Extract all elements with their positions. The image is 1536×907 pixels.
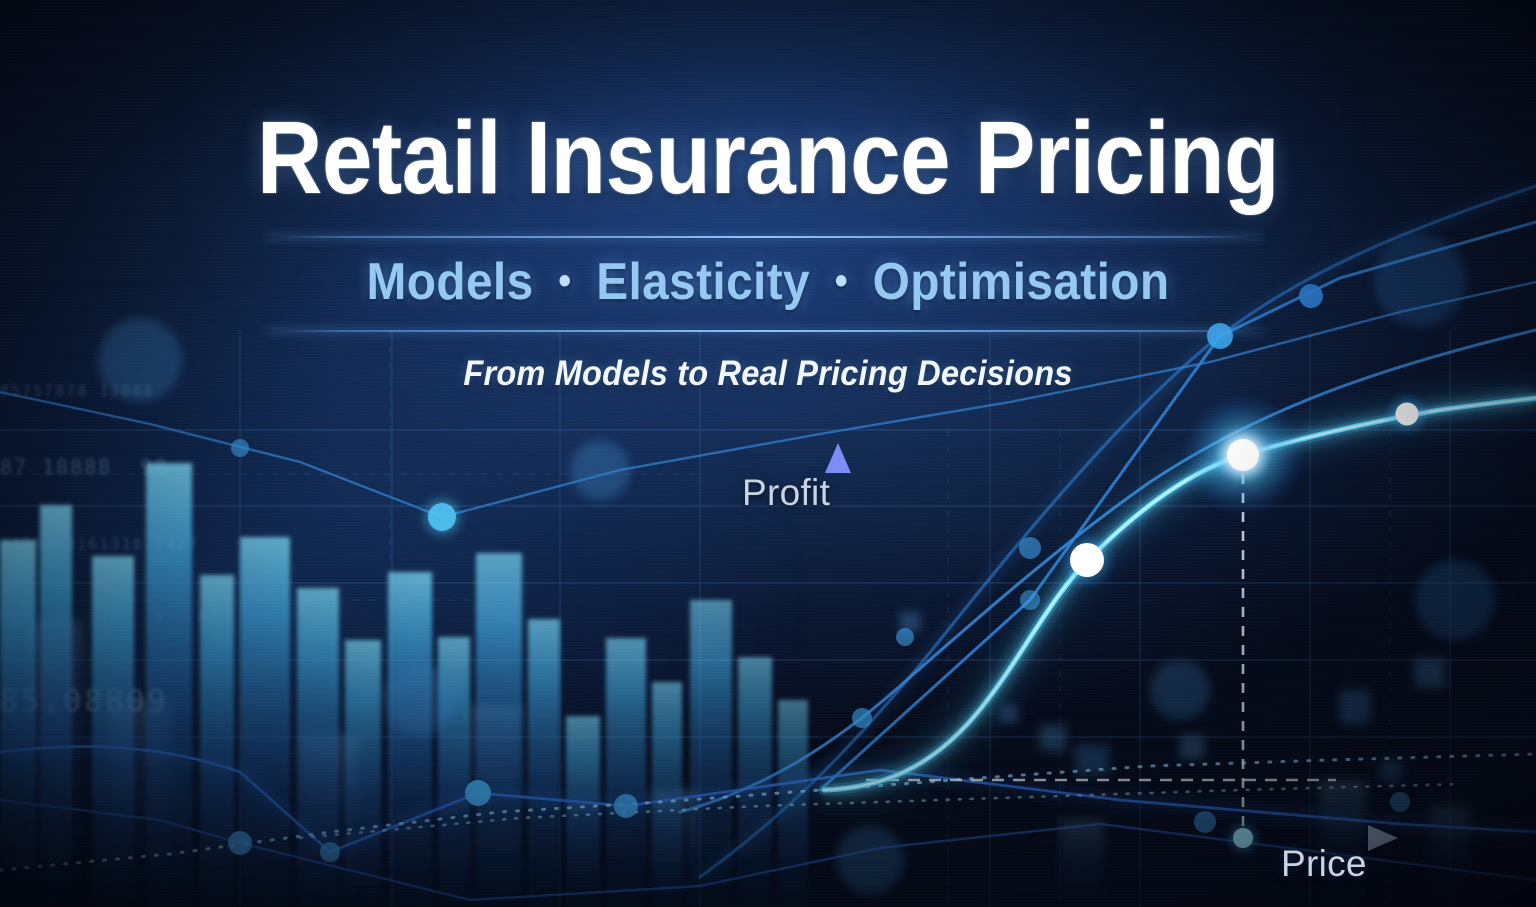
divider-bottom: [265, 330, 1263, 332]
banner-canvas: 85757878 13888 87 18888 98 11853 3161318…: [0, 0, 1536, 907]
bar: [345, 640, 381, 907]
bar: [738, 657, 772, 907]
bar: [606, 638, 646, 907]
subtitle-part-optimisation: Optimisation: [873, 253, 1170, 311]
divider-top: [265, 236, 1263, 238]
subtitle: Models • Elasticity • Optimisation: [61, 252, 1474, 312]
bar: [0, 540, 36, 907]
page-title: Retail Insurance Pricing: [92, 104, 1444, 211]
bar: [200, 575, 234, 907]
arrow-up-icon: [825, 443, 851, 473]
arrow-right-icon: [1368, 825, 1398, 851]
subtitle-part-elasticity: Elasticity: [596, 253, 810, 311]
bar: [566, 716, 600, 907]
axis-label-price: Price: [1281, 843, 1367, 885]
bar: [146, 463, 192, 907]
headline-block: Retail Insurance Pricing: [0, 104, 1536, 211]
bar: [92, 556, 134, 907]
bar: [388, 572, 432, 907]
bar: [528, 619, 560, 907]
subtitle-part-models: Models: [367, 253, 534, 311]
tagline: From Models to Real Pricing Decisions: [54, 354, 1482, 394]
bar: [476, 553, 522, 907]
bullet-separator-icon: •: [824, 259, 859, 303]
bullet-separator-icon: •: [547, 259, 582, 303]
bar: [40, 505, 72, 907]
bar: [652, 682, 682, 907]
axis-label-profit: Profit: [742, 472, 830, 514]
bar: [690, 600, 732, 907]
